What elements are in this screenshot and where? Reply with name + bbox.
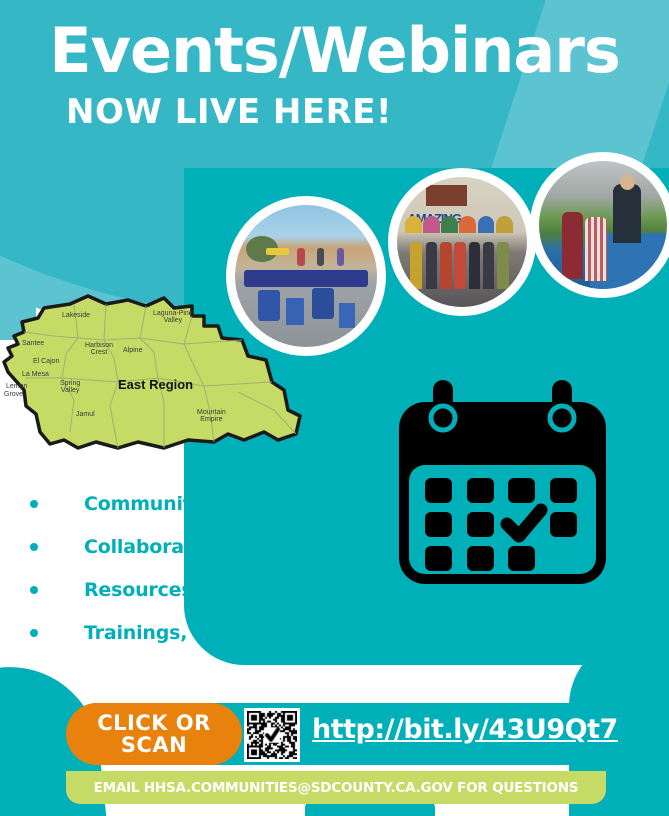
bullet-dot-icon [30,629,38,637]
bullet-dot-icon [30,543,38,551]
cta-bar: CLICK OR SCAN http://bit.ly/43U9Qt7 [66,703,606,765]
click-or-scan-line2: SCAN [121,734,187,756]
map-label: Lakeside [62,312,90,319]
group-celebration-photo: AMAZING [388,168,536,316]
east-region-map: LakesideLaguna-PineValleySanteeHarbisonC… [0,282,348,482]
map-label: Alpine [123,347,142,354]
map-label: La Mesa [22,371,49,378]
map-label: Grove [4,391,23,398]
flyer-root: Events/Webinars NOW LIVE HERE! AMAZING [0,0,669,816]
list-item: Collaborative Meetings [0,525,360,568]
map-label: HarbisonCrest [85,342,113,357]
map-label: El Cajon [33,358,59,365]
bullet-label: Community Events [84,493,281,515]
list-item: Resources Workshops, [0,568,360,611]
resource-table-photo [530,152,669,298]
map-label: Santee [22,340,44,347]
bullet-dot-icon [30,500,38,508]
map-label: Lemon [6,383,27,390]
click-or-scan-line1: CLICK OR [97,712,211,734]
bullet-label: Trainings, & Classes [84,622,295,644]
qr-code[interactable] [244,708,300,762]
email-contact-banner: EMAIL HHSA.COMMUNITIES@SDCOUNTY.CA.GOV F… [66,771,606,804]
click-or-scan-button[interactable]: CLICK OR SCAN [66,703,242,765]
map-label: Laguna-PineValley [153,310,193,325]
map-label: Jamul [76,411,95,418]
map-label: MountainEmpire [197,409,226,424]
map-label: SpringValley [60,380,80,395]
map-region-label: East Region [118,378,193,392]
calendar-check-icon [385,372,620,607]
list-item: Trainings, & Classes [0,611,360,654]
bullet-label: Collaborative Meetings [84,536,327,558]
bullet-dot-icon [30,586,38,594]
feature-bullet-list: Community Events Collaborative Meetings … [0,482,360,654]
bullet-label: Resources Workshops, [84,579,322,601]
list-item: Community Events [0,482,360,525]
event-url-link[interactable]: http://bit.ly/43U9Qt7 [312,714,618,745]
